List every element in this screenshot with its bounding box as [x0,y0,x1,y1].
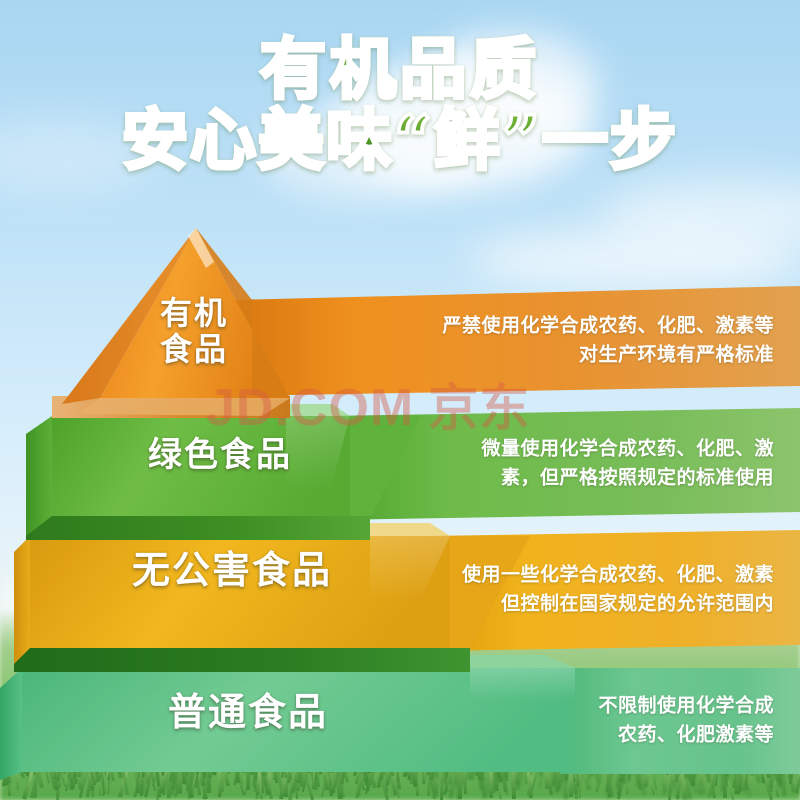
tier-4-description: 不限制使用化学合成 农药、化肥激素等 [598,692,774,751]
tier-4-banner-text-wrap: 不限制使用化学合成 农药、化肥激素等 [0,668,800,774]
poster-canvas: 有机品质 安心美味“鲜”一步 [0,0,800,800]
tier-2-label: 绿色食品 [148,436,292,475]
tier-3-description: 使用一些化学合成农药、化肥、激素 但控制在国家规定的允许范围内 [462,561,774,620]
tier-3-banner-text-wrap: 使用一些化学合成农药、化肥、激素 但控制在国家规定的允许范围内 [0,532,800,648]
tier-1-description: 严禁使用化学合成农药、化肥、激素等 对生产环境有严格标准 [442,312,774,371]
tier-3-label: 无公害食品 [132,550,332,593]
watermark-chinese: 京东 [428,380,530,436]
jd-watermark: JD.COM京东 [206,368,596,440]
tier-2-description: 微量使用化学合成农药、化肥、激 素，但严格按照规定的标准使用 [481,435,774,494]
watermark-latin: JD.COM [206,379,414,437]
tier-4-label: 普通食品 [168,692,328,735]
tier-1-label: 有机 食品 [160,295,228,368]
